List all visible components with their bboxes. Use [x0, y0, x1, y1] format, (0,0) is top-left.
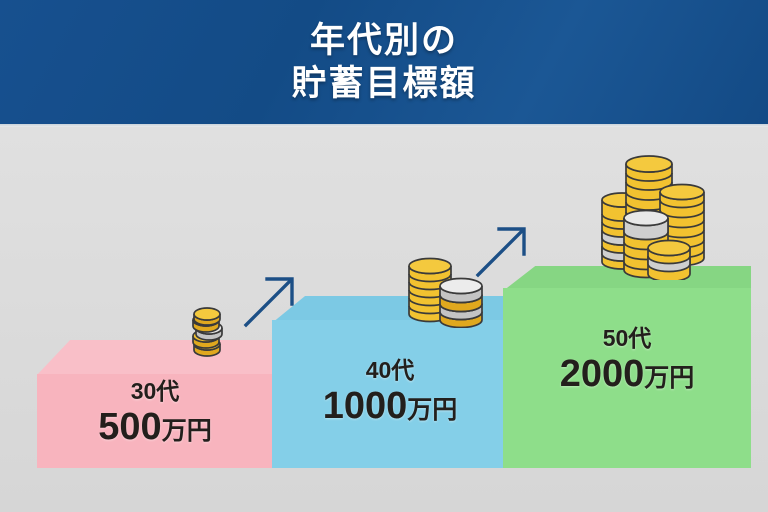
bar-30dai-age-label: 30代	[37, 377, 273, 405]
bar-30dai-labels: 30代 500万円	[37, 377, 273, 454]
infographic-canvas: 年代別の 貯蓄目標額	[0, 0, 768, 512]
bar-50dai-amount-label: 2000万円	[503, 352, 751, 401]
bar-30dai-amount-unit: 万円	[162, 417, 212, 445]
bar-30dai-amount-value: 500	[98, 406, 161, 448]
bar-50dai-labels: 50代 2000万円	[503, 324, 751, 401]
bar-40dai-age-label: 40代	[272, 356, 508, 384]
bar-30dai-amount-label: 500万円	[37, 405, 273, 454]
bar-40dai-amount-value: 1000	[323, 385, 408, 427]
coin-stack-50dai	[596, 152, 712, 280]
bar-40dai-amount-label: 1000万円	[272, 384, 508, 433]
bar-50dai-age-label: 50代	[503, 324, 751, 352]
title-line-2: 貯蓄目標額	[291, 62, 476, 105]
bar-40dai-labels: 40代 1000万円	[272, 356, 508, 433]
bar-50dai-amount-unit: 万円	[644, 364, 694, 392]
coin-stack-30dai	[184, 306, 238, 362]
title-banner: 年代別の 貯蓄目標額	[0, 0, 768, 124]
coin-stack-40dai	[404, 242, 490, 328]
chart-stage: 30代 500万円 40代 1000万円 50代 2000万円	[0, 124, 768, 512]
title-line-1: 年代別の	[310, 19, 458, 62]
bar-50dai-amount-value: 2000	[560, 353, 645, 395]
bar-40dai-amount-unit: 万円	[407, 396, 457, 424]
